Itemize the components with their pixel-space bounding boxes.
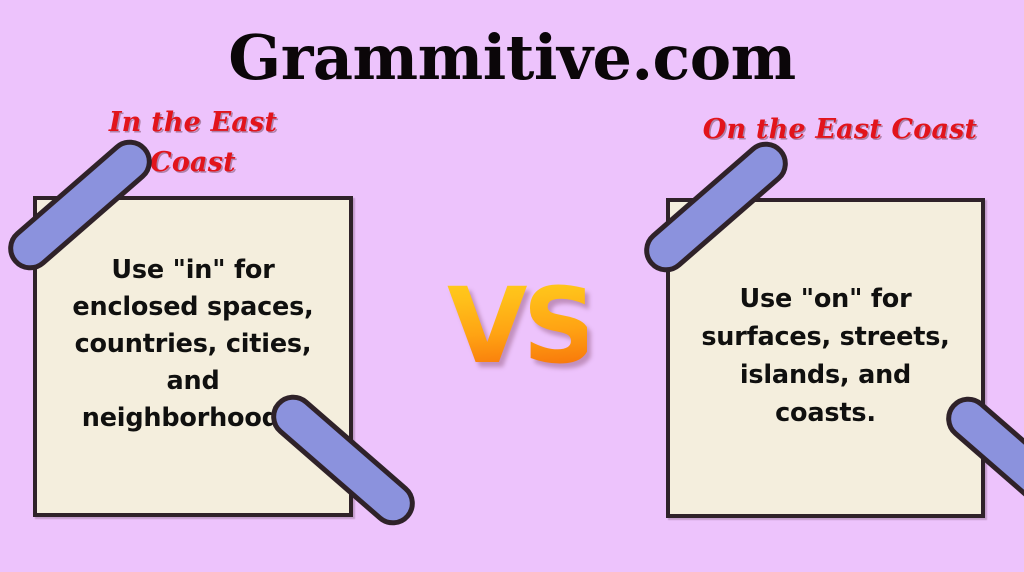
right-column-heading: On the East Coast <box>645 110 1024 150</box>
right-card: Use "on" for surfaces, streets, islands,… <box>666 198 985 518</box>
left-card: Use "in" for enclosed spaces, countries,… <box>33 196 353 517</box>
right-card-body-text: Use "on" for surfaces, streets, islands,… <box>695 280 956 432</box>
page-title: Grammitive.com <box>0 22 1024 94</box>
vs-badge: VS <box>447 268 587 384</box>
infographic-canvas: Grammitive.com In the East Coast Use "in… <box>0 0 1024 572</box>
